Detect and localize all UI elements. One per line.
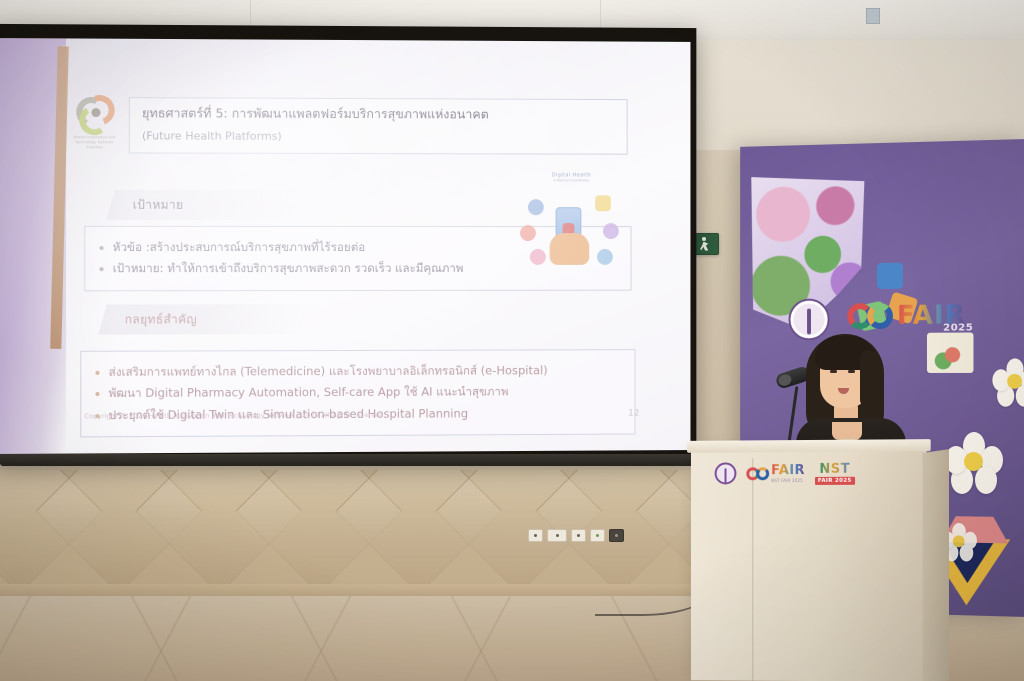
copyright-text: Copyright © 2025 Health Innovation and T… (84, 411, 385, 420)
outlet-single (528, 529, 543, 542)
slide-subtitle: (Future Health Platforms) (142, 129, 615, 143)
slide-title: ยุทธศาสตร์ที่ 5: การพัฒนาแพลตฟอร์มบริการ… (142, 105, 615, 124)
podium-top (687, 439, 931, 453)
fair-logo: FAIR NST FAIR 2025 (746, 463, 805, 483)
fair-logo-subtitle: NST FAIR 2025 (771, 478, 805, 483)
podium-side (923, 449, 949, 681)
bullet-dot-icon (95, 370, 99, 374)
podium-logo-row: FAIR NST FAIR 2025 NST FAIR 2025 (715, 457, 905, 488)
medicine-bottle-icon (520, 225, 536, 241)
balloon-center-icon (953, 535, 965, 547)
screen-bottom-rail (0, 454, 700, 466)
pill-icon (597, 249, 613, 265)
eye (848, 370, 855, 373)
daisy-balloon (945, 432, 1003, 490)
ceiling-vent-icon (866, 8, 880, 24)
fair-logo-word: FAIR (771, 463, 805, 478)
eye (830, 370, 837, 373)
strategy-bullet-list: ส่งเสริมการแพทย์ทางไกล (Telemedicine) แล… (80, 349, 635, 438)
running-person-icon (698, 237, 711, 252)
banner-block-blue (877, 263, 903, 289)
list-item: พัฒนา Digital Pharmacy Automation, Self-… (95, 381, 620, 405)
slide-logo-caption: Health Innovation and Technology Network… (68, 135, 121, 151)
bullet-text: ส่งเสริมการแพทย์ทางไกล (Telemedicine) แล… (109, 361, 621, 382)
clipboard-icon (595, 195, 611, 211)
daisy-balloon (992, 358, 1024, 403)
wall-outlet-panel (528, 524, 624, 546)
conference-room-scene: Health Innovation and Technology Network… (0, 0, 1024, 681)
switch-green (590, 529, 605, 542)
illustration-subtitle: A Medical Consultation (518, 178, 625, 182)
section-heading-goal-label: เป้าหมาย (111, 195, 184, 214)
fair-ring-icon (756, 467, 769, 480)
list-item: ส่งเสริมการแพทย์ทางไกล (Telemedicine) แล… (95, 359, 620, 383)
presentation-slide: Health Innovation and Technology Network… (62, 50, 661, 445)
health-innovation-network-logo-icon (72, 95, 117, 133)
nst-fair-logo: NST FAIR 2025 (815, 461, 855, 484)
digital-health-illustration: Digital Health A Medical Consultation (518, 172, 625, 274)
section-heading-strategy: กลยุทธ์สำคัญ (98, 304, 314, 335)
slide-logo: Health Innovation and Technology Network… (68, 95, 121, 152)
bullet-dot-icon (100, 246, 104, 250)
podium: FAIR NST FAIR 2025 NST FAIR 2025 (691, 447, 927, 681)
balloon-center-icon (1007, 374, 1022, 389)
projection-screen: Health Innovation and Technology Network… (0, 24, 696, 464)
nst-logo-word: NST (819, 461, 850, 476)
slide-title-box: ยุทธศาสตร์ที่ 5: การพัฒนาแพลตฟอร์มบริการ… (129, 97, 628, 155)
hand-icon (550, 233, 589, 265)
outlet-data (571, 529, 586, 542)
stethoscope-icon (603, 223, 619, 239)
doctor-icon (530, 249, 546, 265)
hair-side (860, 350, 878, 406)
necklace (838, 430, 856, 440)
university-seal-icon (715, 462, 737, 484)
bullet-dot-icon (95, 392, 99, 396)
podium-seam (752, 458, 753, 680)
illustration-stage (518, 185, 625, 269)
bullet-dot-icon (100, 267, 104, 271)
outlet-double (547, 529, 567, 542)
bullet-text: พัฒนา Digital Pharmacy Automation, Self-… (109, 382, 621, 403)
projection-surface: Health Innovation and Technology Network… (0, 38, 690, 454)
fair-logo-year: 2025 (943, 322, 973, 333)
balloon-center-icon (964, 452, 983, 471)
fair-ring-icon (867, 303, 893, 329)
panel-dark (609, 529, 624, 542)
nst-logo-subtitle: FAIR 2025 (815, 476, 855, 484)
slide-page-number: 12 (628, 409, 639, 419)
video-call-icon (528, 199, 544, 215)
section-heading-goal: เป้าหมาย (106, 190, 306, 220)
section-heading-strategy-label: กลยุทธ์สำคัญ (103, 310, 198, 329)
